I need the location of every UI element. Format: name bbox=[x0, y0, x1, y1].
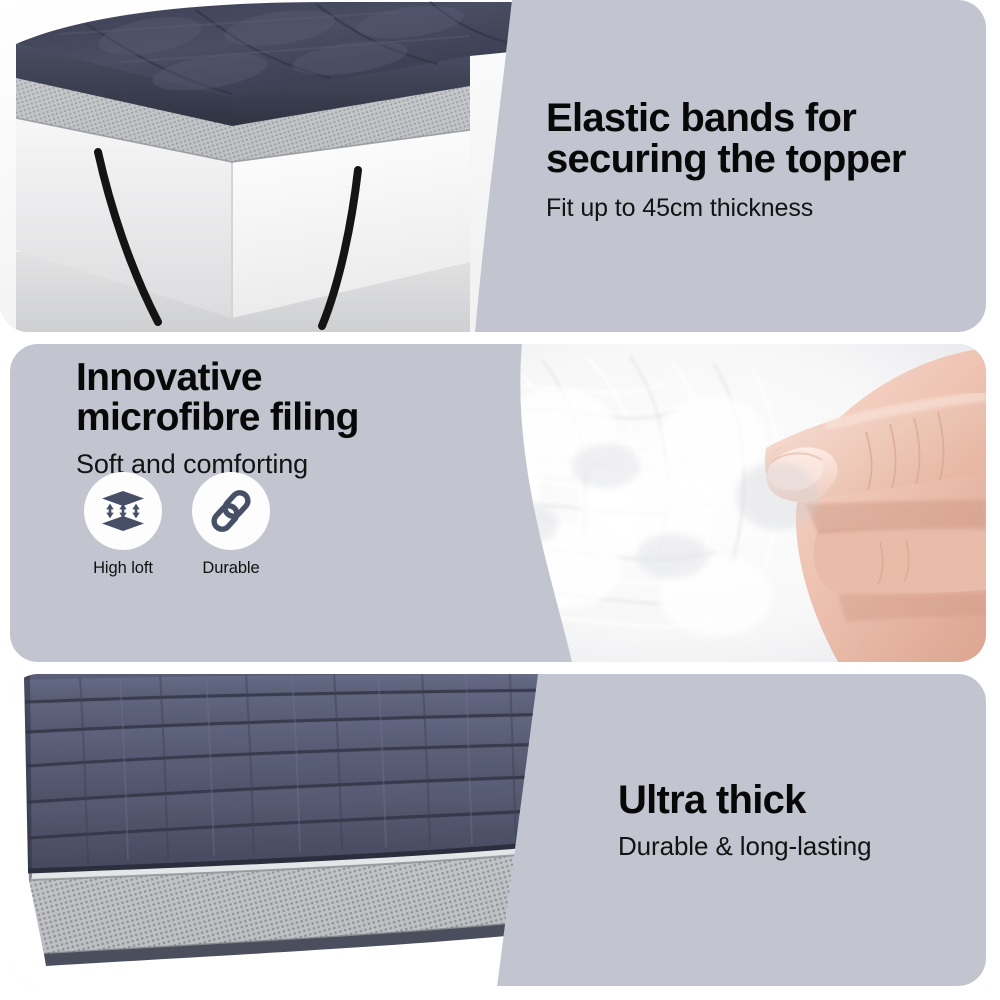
high-loft-icon bbox=[99, 487, 147, 535]
feature-panel-ultra-thick: Ultra thick Durable & long-lasting bbox=[10, 674, 986, 986]
chain-link-icon bbox=[207, 487, 255, 535]
badge-circle bbox=[84, 472, 162, 550]
panel1-text-block: Elastic bands for securing the topper Fi… bbox=[546, 98, 906, 223]
product-photo-microfibre-fill bbox=[466, 344, 986, 662]
panel3-text-block: Ultra thick Durable & long-lasting bbox=[618, 780, 872, 862]
feature-panel-microfibre-filling: Innovative microfibre filing Soft and co… bbox=[10, 344, 986, 662]
microfibre-hand-illustration bbox=[466, 344, 986, 662]
panel2-headline-line2: microfibre filing bbox=[76, 398, 359, 438]
panel3-subline: Durable & long-lasting bbox=[618, 831, 872, 862]
feature-badge-durable: Durable bbox=[192, 472, 270, 578]
panel2-text-block: Innovative microfibre filing Soft and co… bbox=[76, 358, 359, 480]
badge-circle bbox=[192, 472, 270, 550]
feature-panel-elastic-bands: Elastic bands for securing the topper Fi… bbox=[0, 0, 986, 332]
panel3-headline-line1: Ultra thick bbox=[618, 780, 872, 821]
infographic-canvas: Elastic bands for securing the topper Fi… bbox=[0, 0, 1000, 1000]
topper-corner-illustration bbox=[0, 0, 530, 332]
panel1-headline-line1: Elastic bands for bbox=[546, 98, 906, 139]
panel2-headline-line1: Innovative bbox=[76, 358, 359, 398]
panel1-headline-line2: securing the topper bbox=[546, 139, 906, 180]
badge-label-high-loft: High loft bbox=[93, 559, 153, 578]
product-photo-topper-corner bbox=[0, 0, 530, 332]
feature-badge-high-loft: High loft bbox=[84, 472, 162, 578]
feature-badge-list: High loft Durable bbox=[84, 472, 270, 578]
quilted-topper-illustration bbox=[10, 674, 555, 986]
badge-label-durable: Durable bbox=[202, 559, 259, 578]
panel1-subline: Fit up to 45cm thickness bbox=[546, 194, 906, 223]
product-photo-quilted-edge bbox=[10, 674, 555, 986]
